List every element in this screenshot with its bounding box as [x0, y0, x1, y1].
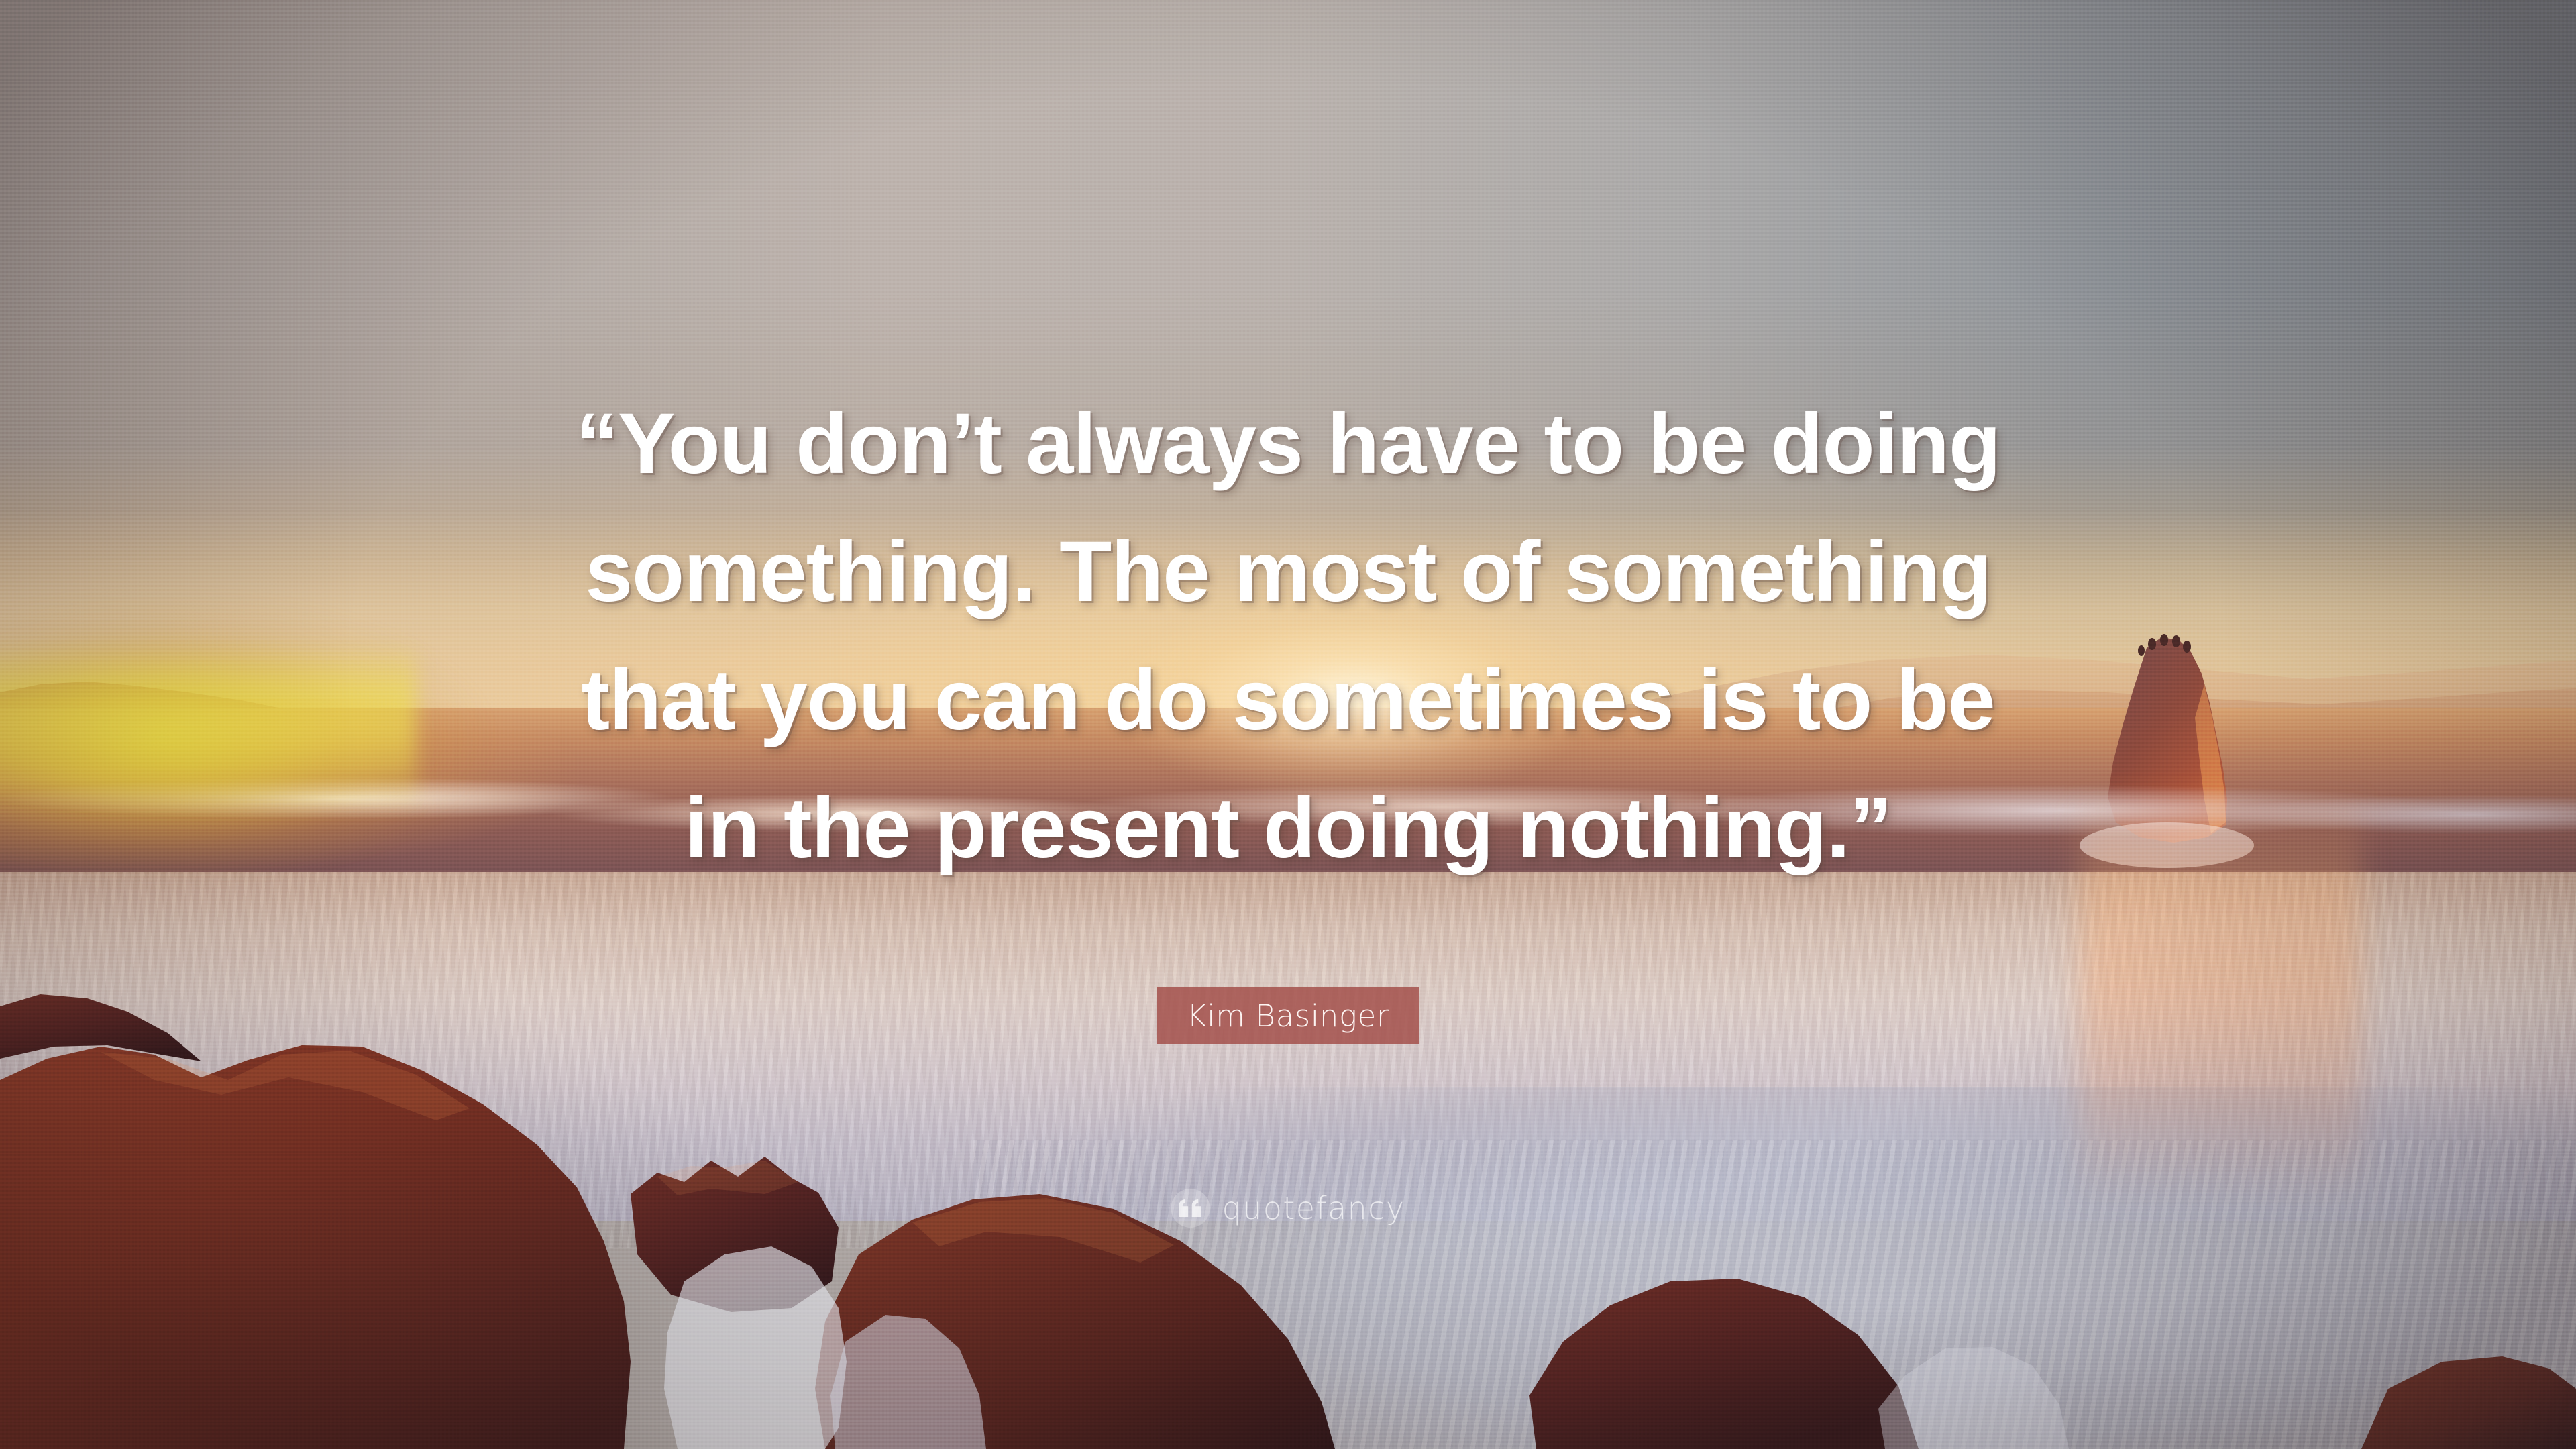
quotefancy-watermark[interactable]: quotefancy	[1171, 1189, 1405, 1228]
wallpaper-canvas: “You don’t always have to be doing somet…	[0, 0, 2576, 1449]
quote-mark-icon	[1171, 1189, 1210, 1228]
quotefancy-brand: quotefancy	[1222, 1190, 1405, 1226]
author-badge[interactable]: Kim Basinger	[1157, 987, 1419, 1044]
wave-crest-layer	[0, 758, 2576, 859]
author-name: Kim Basinger	[1187, 998, 1389, 1034]
foreground-rocks	[0, 879, 2576, 1449]
